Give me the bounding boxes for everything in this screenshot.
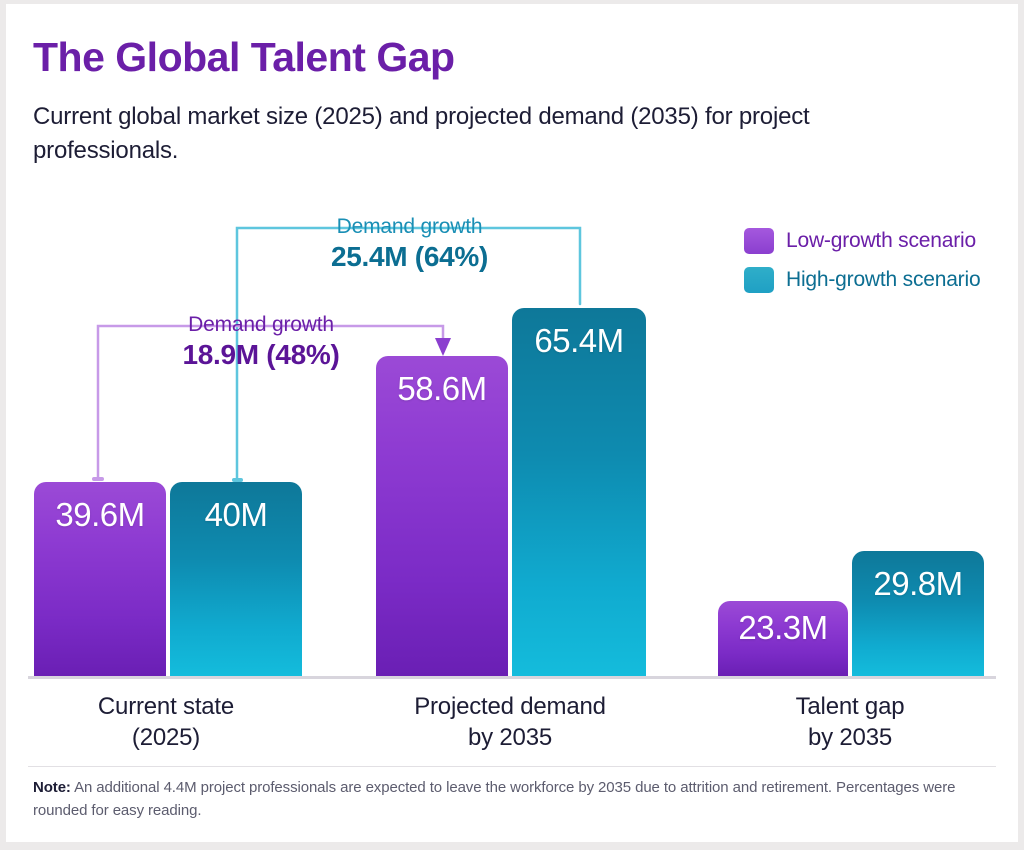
bar-value-projected-low: 58.6M xyxy=(376,370,508,408)
low-growth-annotation-title: Demand growth xyxy=(44,313,478,337)
bar-value-current-low: 39.6M xyxy=(34,496,166,534)
footnote-divider xyxy=(28,766,996,767)
category-label-current-state-line1: Current state xyxy=(36,691,296,722)
bar-value-gap-low: 23.3M xyxy=(718,609,848,647)
bar-value-gap-high: 29.8M xyxy=(852,565,984,603)
category-label-projected-demand-line2: by 2035 xyxy=(380,722,640,753)
low-growth-bracket-foot xyxy=(92,477,104,481)
bar-projected-low[interactable]: 58.6M xyxy=(376,356,508,676)
chart-card: The Global Talent Gap Current global mar… xyxy=(6,4,1018,842)
bar-projected-high[interactable]: 65.4M xyxy=(512,308,646,676)
footnote-label: Note: xyxy=(33,779,71,796)
category-label-current-state: Current state (2025) xyxy=(36,691,296,753)
category-label-projected-demand-line1: Projected demand xyxy=(380,691,640,722)
footnote-text: An additional 4.4M project professionals… xyxy=(33,779,955,819)
category-label-current-state-line2: (2025) xyxy=(36,722,296,753)
category-label-talent-gap: Talent gap by 2035 xyxy=(720,691,980,753)
high-growth-annotation-title: Demand growth xyxy=(177,215,642,239)
bar-current-high[interactable]: 40M xyxy=(170,482,302,676)
category-label-projected-demand: Projected demand by 2035 xyxy=(380,691,640,753)
footnote: Note: An additional 4.4M project profess… xyxy=(33,776,983,823)
chart-plot-area: Demand growth 25.4M (64%) Demand growth … xyxy=(6,4,1018,842)
category-label-talent-gap-line1: Talent gap xyxy=(720,691,980,722)
bar-gap-low[interactable]: 23.3M xyxy=(718,601,848,676)
bar-value-projected-high: 65.4M xyxy=(512,322,646,360)
bar-value-current-high: 40M xyxy=(170,496,302,534)
category-label-talent-gap-line2: by 2035 xyxy=(720,722,980,753)
bar-gap-high[interactable]: 29.8M xyxy=(852,551,984,676)
high-growth-annotation: Demand growth 25.4M (64%) xyxy=(177,215,642,273)
chart-baseline xyxy=(28,676,996,679)
high-growth-annotation-value: 25.4M (64%) xyxy=(177,241,642,273)
bar-current-low[interactable]: 39.6M xyxy=(34,482,166,676)
